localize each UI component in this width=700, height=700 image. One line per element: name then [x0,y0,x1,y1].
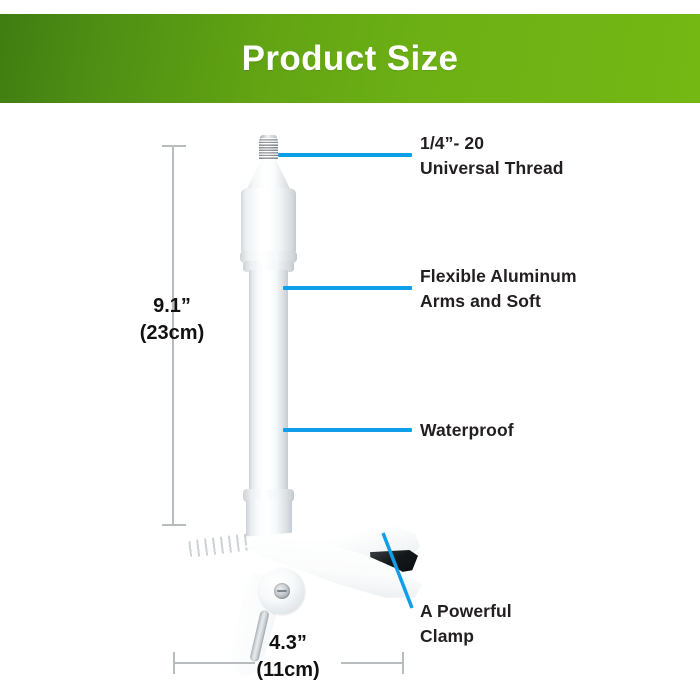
callout-clamp: A Powerful Clamp [420,599,512,649]
screw-thread-icon [259,138,278,160]
leader-line-arm [283,286,412,290]
header-banner: Product Size [0,14,700,103]
page-title: Product Size [242,41,459,76]
callout-thread: 1/4”- 20 Universal Thread [420,131,564,181]
head-cone [246,159,291,191]
width-dimension-label: 4.3” (11cm) [242,630,334,684]
callout-flexible-arm: Flexible Aluminum Arms and Soft [420,264,577,314]
height-dimension-cap-top [162,145,186,147]
product-diagram: 1/4”- 20 Universal Thread Flexible Alumi… [0,103,700,700]
leader-line-waterproof [283,428,412,432]
callout-waterproof: Waterproof [420,418,514,443]
clamp-pivot-screw-icon [274,583,290,599]
height-dimension-label: 9.1” (23cm) [126,293,218,347]
width-dimension-cap-right [402,652,404,674]
height-dimension-cap-bottom [162,524,186,526]
head-housing [241,188,296,256]
flexible-arm-tube [249,270,288,495]
width-dimension-line-right [341,662,403,664]
arm-foot [246,499,292,539]
leader-line-thread [278,153,412,157]
